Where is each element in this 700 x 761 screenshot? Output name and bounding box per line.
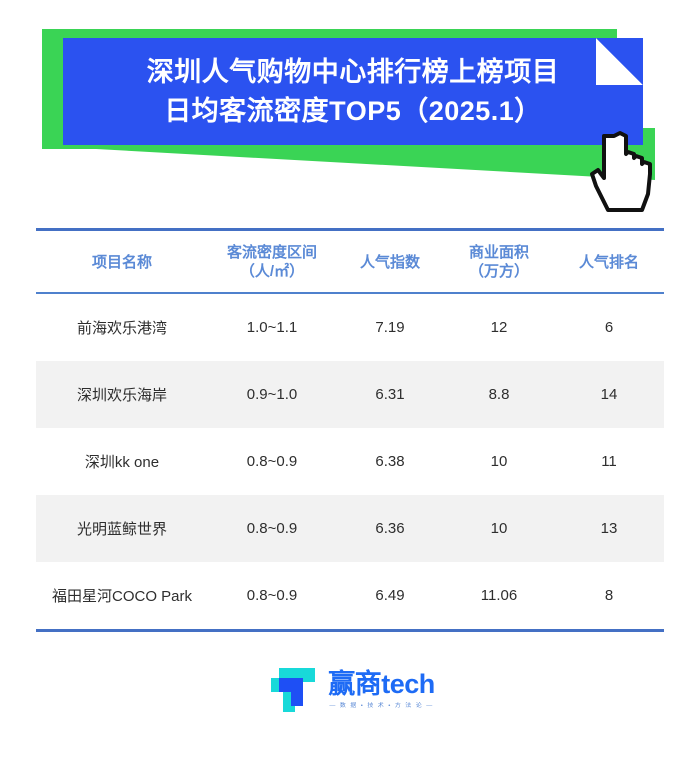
cell-density: 0.8~0.9 (208, 428, 336, 495)
table-body: 前海欢乐港湾 1.0~1.1 7.19 12 6 深圳欢乐海岸 0.9~1.0 … (36, 293, 664, 631)
column-header-density-main: 客流密度区间 (227, 244, 317, 261)
table-header: 项目名称 客流密度区间 （人/㎡） 人气指数 商业面积 （万方） 人气排名 (36, 230, 664, 294)
cell-density: 0.8~0.9 (208, 562, 336, 631)
cell-commercial-area: 11.06 (444, 562, 554, 631)
cell-popularity-index: 6.49 (336, 562, 444, 631)
table-row: 前海欢乐港湾 1.0~1.1 7.19 12 6 (36, 293, 664, 361)
column-header-popularity-rank: 人气排名 (554, 230, 664, 294)
column-header-project-name: 项目名称 (36, 230, 208, 294)
cell-popularity-rank: 8 (554, 562, 664, 631)
cell-project-name: 光明蓝鲸世界 (36, 495, 208, 562)
cell-project-name: 深圳欢乐海岸 (36, 361, 208, 428)
pointing-hand-cursor-icon (586, 124, 666, 216)
cell-commercial-area: 12 (444, 293, 554, 361)
page-title: 深圳人气购物中心排行榜上榜项目 日均客流密度TOP5（2025.1） (63, 38, 643, 145)
cell-popularity-index: 6.31 (336, 361, 444, 428)
cell-density: 1.0~1.1 (208, 293, 336, 361)
table-row: 深圳欢乐海岸 0.9~1.0 6.31 8.8 14 (36, 361, 664, 428)
table-row: 光明蓝鲸世界 0.8~0.9 6.36 10 13 (36, 495, 664, 562)
column-header-density-sub: （人/㎡） (208, 262, 336, 281)
table-header-row: 项目名称 客流密度区间 （人/㎡） 人气指数 商业面积 （万方） 人气排名 (36, 230, 664, 294)
cell-popularity-rank: 6 (554, 293, 664, 361)
column-header-commercial-area-main: 商业面积 (469, 244, 529, 261)
page-title-line2: 日均客流密度TOP5（2025.1） (164, 92, 542, 130)
cell-popularity-rank: 13 (554, 495, 664, 562)
cell-project-name: 前海欢乐港湾 (36, 293, 208, 361)
cell-commercial-area: 8.8 (444, 361, 554, 428)
ranking-table-container: 项目名称 客流密度区间 （人/㎡） 人气指数 商业面积 （万方） 人气排名 (36, 228, 664, 632)
brand-logo: 赢商tech — 数 据 • 技 术 • 方 法 论 — (0, 662, 700, 718)
cell-project-name: 深圳kk one (36, 428, 208, 495)
table-row: 福田星河COCO Park 0.8~0.9 6.49 11.06 8 (36, 562, 664, 631)
page-title-line1: 深圳人气购物中心排行榜上榜项目 (147, 53, 560, 91)
ranking-table: 项目名称 客流密度区间 （人/㎡） 人气指数 商业面积 （万方） 人气排名 (36, 228, 664, 632)
table-row: 深圳kk one 0.8~0.9 6.38 10 11 (36, 428, 664, 495)
winshang-t-logo-icon (265, 662, 321, 718)
cell-popularity-rank: 14 (554, 361, 664, 428)
cell-popularity-index: 6.38 (336, 428, 444, 495)
cell-popularity-index: 7.19 (336, 293, 444, 361)
cell-commercial-area: 10 (444, 428, 554, 495)
column-header-commercial-area: 商业面积 （万方） (444, 230, 554, 294)
column-header-popularity-rank-main: 人气排名 (579, 254, 639, 271)
column-header-popularity-index: 人气指数 (336, 230, 444, 294)
cell-density: 0.9~1.0 (208, 361, 336, 428)
column-header-commercial-area-sub: （万方） (444, 262, 554, 281)
cell-density: 0.8~0.9 (208, 495, 336, 562)
cell-popularity-rank: 11 (554, 428, 664, 495)
column-header-density: 客流密度区间 （人/㎡） (208, 230, 336, 294)
header-banner: 深圳人气购物中心排行榜上榜项目 日均客流密度TOP5（2025.1） (0, 0, 700, 215)
cell-popularity-index: 6.36 (336, 495, 444, 562)
cell-project-name: 福田星河COCO Park (36, 562, 208, 631)
cell-commercial-area: 10 (444, 495, 554, 562)
brand-logo-text-block: 赢商tech — 数 据 • 技 术 • 方 法 论 — (328, 671, 435, 709)
brand-logo-text: 赢商tech (328, 671, 435, 698)
column-header-popularity-index-main: 人气指数 (360, 254, 420, 271)
column-header-project-name-main: 项目名称 (92, 254, 152, 271)
brand-logo-tagline: — 数 据 • 技 术 • 方 法 论 — (329, 703, 433, 708)
